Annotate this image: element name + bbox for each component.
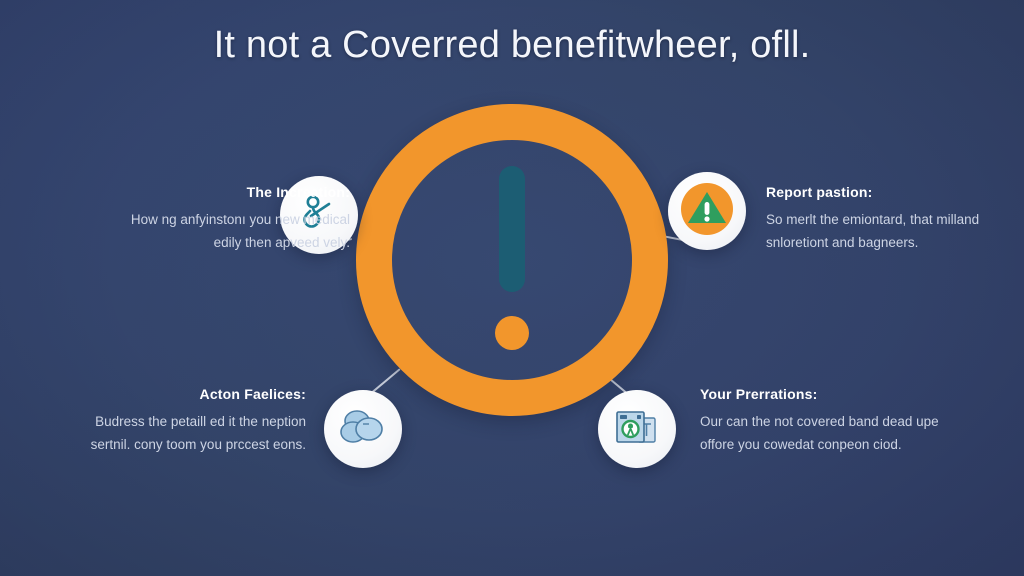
callout-top-left: The Increation: How ng anfyinstonı you n… <box>110 184 350 254</box>
warning-triangle-icon <box>678 180 736 243</box>
callout-heading: Acton Faelices: <box>66 386 306 402</box>
exclamation-mark-icon <box>499 166 525 292</box>
center-alert-graphic <box>356 104 668 416</box>
page-title: It not a Coverred benefitwheer, ofll. <box>0 24 1024 67</box>
callout-body: Our can the not covered band dead upe of… <box>700 410 940 456</box>
callout-body: How ng anfyinstonı you new medical edily… <box>110 208 350 254</box>
exclamation-dot-icon <box>495 316 529 350</box>
callout-heading: Your Prerrations: <box>700 386 940 402</box>
icon-bubble-top-right <box>668 172 746 250</box>
icon-bubble-bottom-left <box>324 390 402 468</box>
banknotes-icon <box>611 404 663 455</box>
infographic-canvas: It not a Coverred benefitwheer, ofll. <box>0 0 1024 576</box>
callout-body: Budress the petaill ed it the neption se… <box>66 410 306 456</box>
callout-top-right: Report pastion: So merlt the emiontard, … <box>766 184 1006 254</box>
callout-heading: Report pastion: <box>766 184 1006 200</box>
callout-heading: The Increation: <box>110 184 350 200</box>
icon-bubble-bottom-right <box>598 390 676 468</box>
callout-body: So merlt the emiontard, that milland snl… <box>766 208 1006 254</box>
callout-bottom-right: Your Prerrations: Our can the not covere… <box>700 386 940 456</box>
pills-icon <box>338 405 388 454</box>
callout-bottom-left: Acton Faelices: Budress the petaill ed i… <box>66 386 306 456</box>
